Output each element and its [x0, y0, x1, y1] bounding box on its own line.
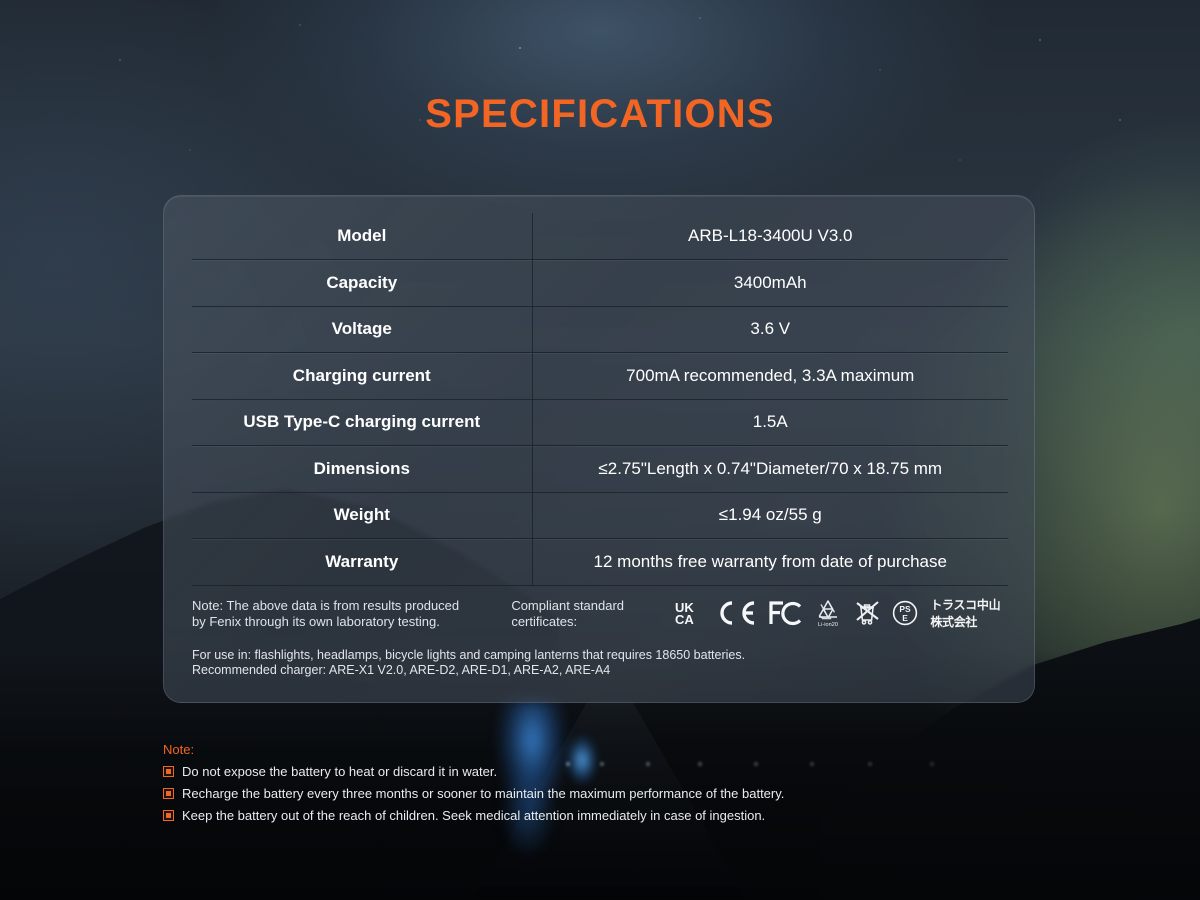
spec-key: Charging current	[192, 353, 532, 400]
page-title: SPECIFICATIONS	[0, 92, 1200, 137]
table-row: Model ARB-L18-3400U V3.0	[192, 213, 1008, 260]
note-text: Recharge the battery every three months …	[182, 786, 784, 801]
laboratory-note-line-2: by Fenix through its own laboratory test…	[192, 614, 487, 630]
bottom-notes: Note: Do not expose the battery to heat …	[163, 742, 1063, 830]
usage-line-1: For use in: flashlights, headlamps, bicy…	[192, 648, 1008, 663]
square-bullet-icon	[163, 788, 174, 799]
spec-key: USB Type-C charging current	[192, 399, 532, 446]
bottom-notes-heading: Note:	[163, 742, 1063, 757]
usage-information: For use in: flashlights, headlamps, bicy…	[192, 648, 1008, 678]
spec-value: ≤1.94 oz/55 g	[532, 492, 1008, 539]
specifications-table: Model ARB-L18-3400U V3.0 Capacity 3400mA…	[192, 213, 1008, 586]
list-item: Do not expose the battery to heat or dis…	[163, 764, 1063, 779]
spec-value: 700mA recommended, 3.3A maximum	[532, 353, 1008, 400]
pse-mark-icon: PS E	[892, 600, 918, 626]
table-row: Voltage 3.6 V	[192, 306, 1008, 353]
spec-value: ≤2.75"Length x 0.74"Diameter/70 x 18.75 …	[532, 446, 1008, 493]
table-row: Dimensions ≤2.75"Length x 0.74"Diameter/…	[192, 446, 1008, 493]
page-background: SPECIFICATIONS Model ARB-L18-3400U V3.0 …	[0, 0, 1200, 900]
spec-key: Warranty	[192, 539, 532, 586]
list-item: Keep the battery out of the reach of chi…	[163, 808, 1063, 823]
note-text: Keep the battery out of the reach of chi…	[182, 808, 765, 823]
spec-key: Voltage	[192, 306, 532, 353]
square-bullet-icon	[163, 810, 174, 821]
spec-value: 1.5A	[532, 399, 1008, 446]
spec-key: Model	[192, 213, 532, 260]
card-footer: Note: The above data is from results pro…	[192, 598, 1008, 630]
certification-company-name: トラスコ中山株式会社	[930, 596, 1008, 630]
square-bullet-icon	[163, 766, 174, 777]
svg-text:CA: CA	[675, 612, 694, 627]
laboratory-note-line-1: Note: The above data is from results pro…	[192, 598, 487, 614]
ukca-mark-icon: UK CA	[675, 599, 705, 627]
compliance-label: Compliant standard certificates:	[511, 598, 651, 630]
table-row: USB Type-C charging current 1.5A	[192, 399, 1008, 446]
specifications-card: Model ARB-L18-3400U V3.0 Capacity 3400mA…	[163, 195, 1035, 703]
table-row: Charging current 700mA recommended, 3.3A…	[192, 353, 1008, 400]
list-item: Recharge the battery every three months …	[163, 786, 1063, 801]
compliance-label-line-2: certificates:	[511, 614, 651, 630]
spec-value: 12 months free warranty from date of pur…	[532, 539, 1008, 586]
svg-text:Li-ion20: Li-ion20	[818, 622, 838, 628]
spec-value: 3400mAh	[532, 260, 1008, 307]
li-ion-recycle-icon: Li-ion20	[814, 598, 842, 628]
svg-text:E: E	[903, 613, 909, 623]
specifications-table-body: Model ARB-L18-3400U V3.0 Capacity 3400mA…	[192, 213, 1008, 585]
laboratory-note: Note: The above data is from results pro…	[192, 598, 487, 630]
spec-key: Weight	[192, 492, 532, 539]
usage-line-2: Recommended charger: ARE-X1 V2.0, ARE-D2…	[192, 663, 1008, 678]
note-text: Do not expose the battery to heat or dis…	[182, 764, 497, 779]
fc-mark-icon	[767, 599, 803, 627]
ce-mark-icon	[716, 599, 756, 627]
spec-key: Dimensions	[192, 446, 532, 493]
compliance-label-line-1: Compliant standard	[511, 598, 651, 614]
table-row: Warranty 12 months free warranty from da…	[192, 539, 1008, 586]
weee-crossed-out-bin-icon	[853, 598, 881, 628]
spec-key: Capacity	[192, 260, 532, 307]
certification-icons: UK CA	[675, 596, 1008, 630]
spec-value: ARB-L18-3400U V3.0	[532, 213, 1008, 260]
spec-value: 3.6 V	[532, 306, 1008, 353]
table-row: Capacity 3400mAh	[192, 260, 1008, 307]
table-row: Weight ≤1.94 oz/55 g	[192, 492, 1008, 539]
